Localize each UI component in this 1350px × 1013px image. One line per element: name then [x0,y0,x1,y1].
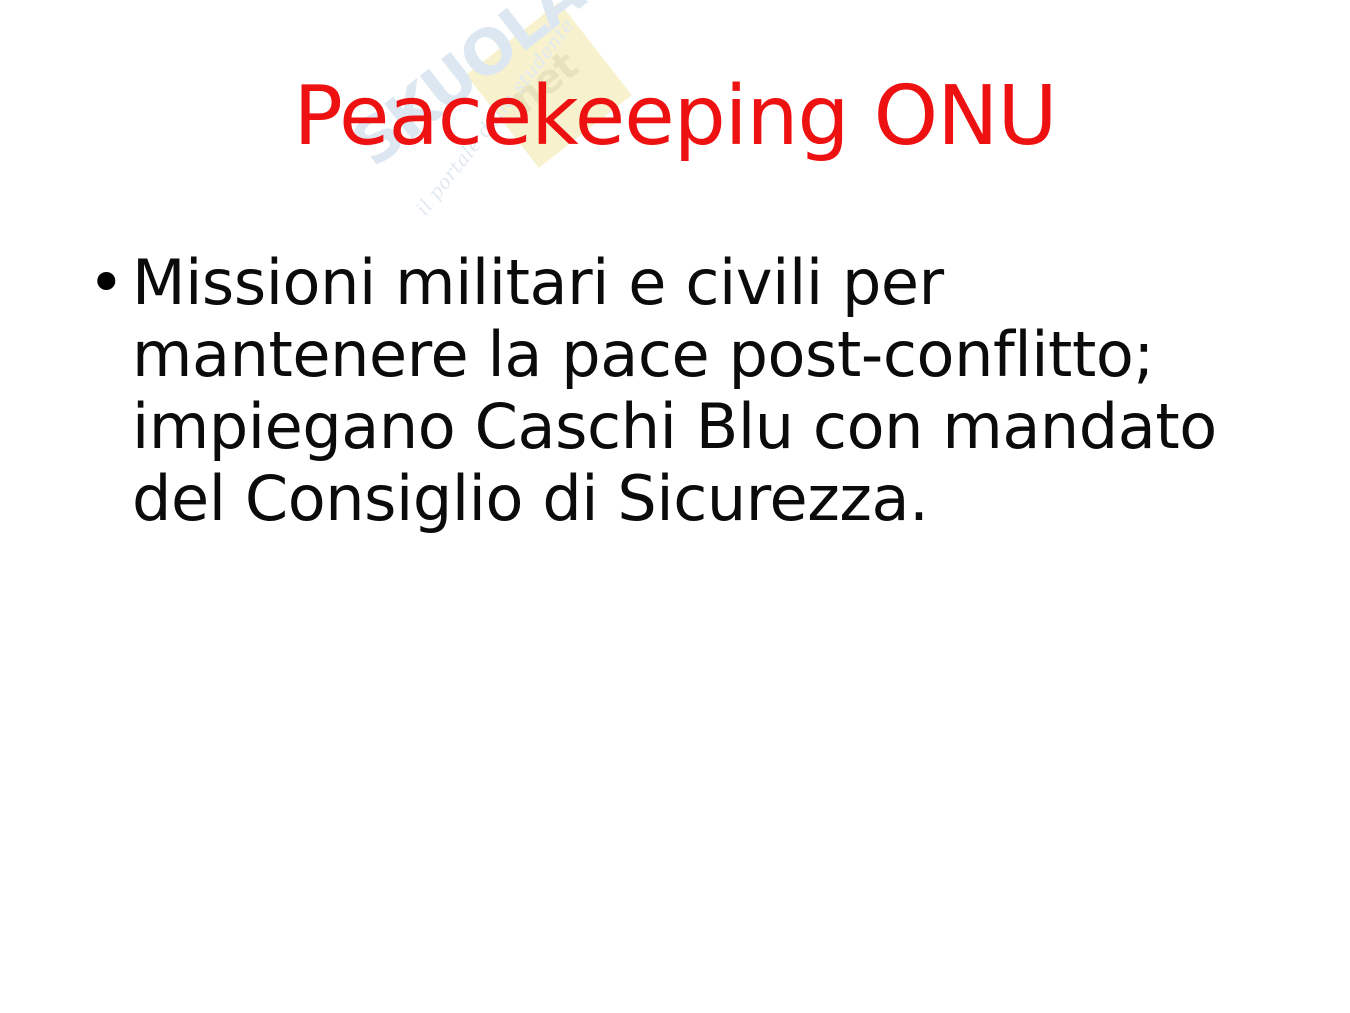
presentation-slide: net SKUOLA il portale dello studente Pea… [0,0,1350,1013]
bullet-marker-icon: • [70,247,132,319]
bullet-item-text: Missioni militari e civili per mantenere… [132,247,1250,535]
slide-body: • Missioni militari e civili per mantene… [70,247,1250,535]
slide-title: Peacekeeping ONU [0,74,1350,160]
bullet-list-item: • Missioni militari e civili per mantene… [70,247,1250,535]
